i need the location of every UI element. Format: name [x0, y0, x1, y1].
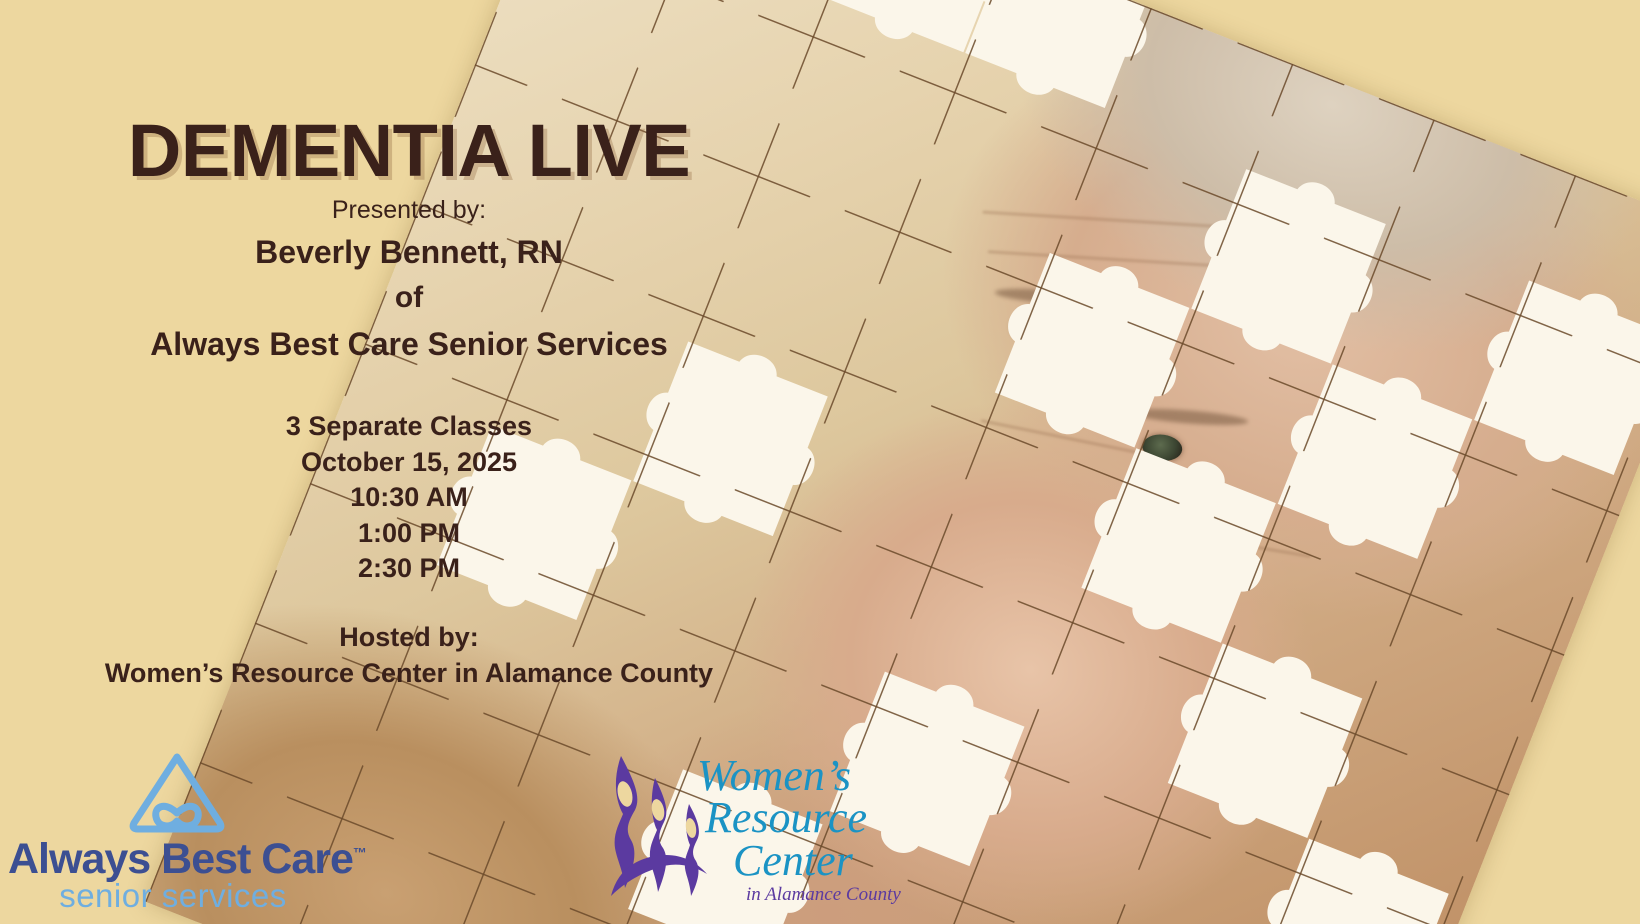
trademark-symbol: ™: [353, 845, 366, 861]
schedule-time: 1:00 PM: [0, 516, 818, 552]
presenter-name: Beverly Bennett, RN: [0, 234, 818, 271]
presenter-connector: of: [0, 281, 818, 315]
hosted-by-label: Hosted by:: [0, 622, 818, 653]
schedule-block: 3 Separate Classes October 15, 2025 10:3…: [0, 409, 818, 587]
host-name: Women’s Resource Center in Alamance Coun…: [0, 658, 818, 689]
abc-name: Always Best Care: [8, 835, 353, 883]
always-best-care-tagline: senior services: [8, 877, 338, 915]
wrc-wordmark: Women’s Resource Center in Alamance Coun…: [683, 742, 943, 902]
schedule-date: October 15, 2025: [0, 445, 818, 481]
wrc-subtitle: in Alamance County: [746, 884, 901, 906]
schedule-time: 10:30 AM: [0, 480, 818, 516]
always-best-care-logo: Always Best Care™ senior services: [8, 735, 338, 915]
womens-resource-center-logo: Women’s Resource Center in Alamance Coun…: [595, 742, 935, 922]
presented-by-label: Presented by:: [0, 196, 818, 225]
schedule-time: 2:30 PM: [0, 551, 818, 587]
flyer-canvas: DEMENTIA LIVE Presented by: Beverly Benn…: [0, 0, 1640, 924]
schedule-classes-count: 3 Separate Classes: [0, 409, 818, 445]
presenter-organization: Always Best Care Senior Services: [0, 326, 818, 363]
wrc-line-3: Center: [733, 835, 853, 886]
triangle-heart-icon: [126, 749, 228, 835]
page-title: DEMENTIA LIVE: [0, 108, 818, 193]
